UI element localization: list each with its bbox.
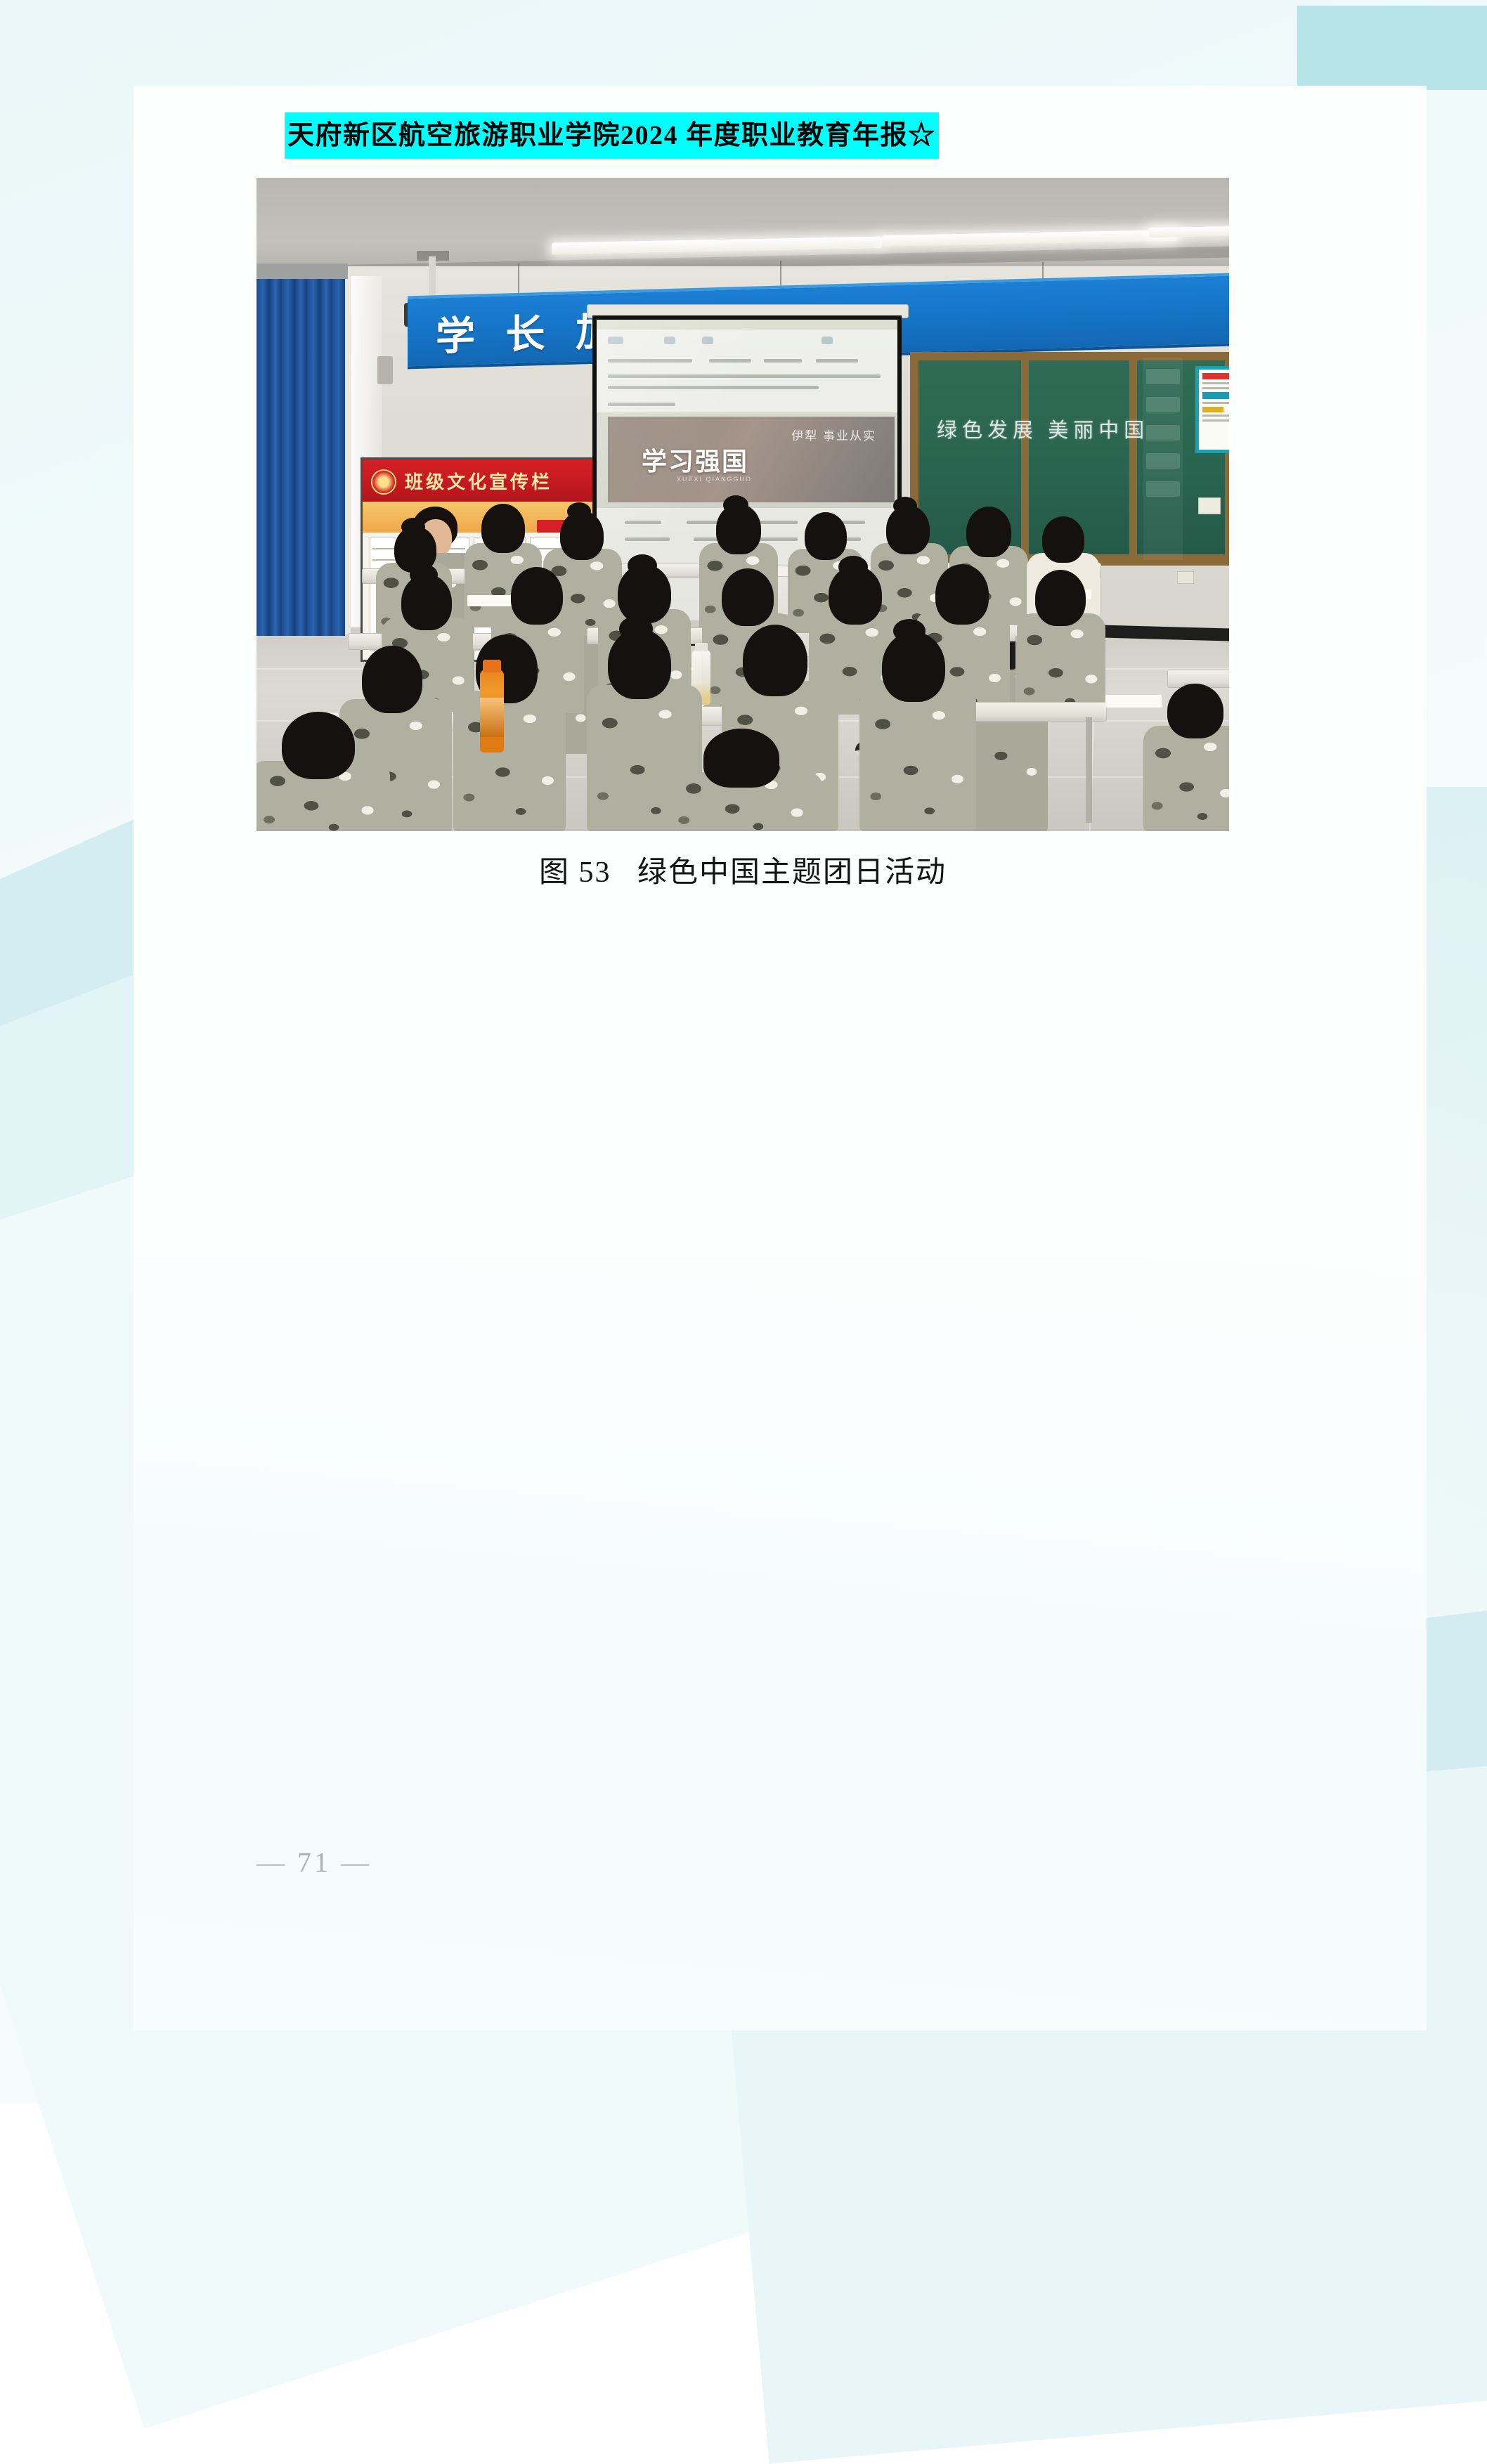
hair-bun	[723, 495, 748, 515]
chalkboard-note-card	[1146, 397, 1180, 412]
hair-bun	[410, 564, 438, 585]
curtain-rail	[257, 263, 348, 279]
wall-socket	[1177, 571, 1194, 584]
wall-poster	[1195, 366, 1229, 453]
blue-curtain	[257, 263, 345, 636]
figure-53: 学 长 加快成材之路 班级文化宣传栏	[257, 178, 1229, 891]
hair-bun	[567, 502, 591, 521]
student-uniform	[1143, 726, 1229, 831]
wall-poster-chip-2	[1202, 407, 1223, 412]
hair-bun	[893, 497, 917, 515]
wall-speaker	[377, 356, 393, 384]
paper-sheet	[1105, 695, 1162, 708]
bulletin-board-header: 班级文化宣传栏	[363, 459, 595, 502]
chalkboard-text: 绿色发展 美丽中国	[937, 414, 1149, 443]
orange-drink-bottle-cap	[483, 660, 501, 672]
chalkboard-note-card	[1146, 369, 1180, 384]
student-head	[362, 646, 422, 713]
chalkboard-note-card	[1146, 481, 1180, 497]
orange-drink-bottle-label	[480, 698, 504, 737]
hair-bun	[401, 518, 425, 536]
wall-poster-title-bar	[1202, 373, 1229, 379]
hair-bun	[628, 554, 657, 577]
chalkboard-note-card	[1146, 425, 1180, 441]
hair-bun	[838, 556, 868, 578]
student-uniform	[859, 686, 976, 831]
wall-light-switch	[1198, 497, 1221, 514]
background-band-top-right	[1297, 6, 1487, 90]
bulletin-emblem-icon	[371, 469, 396, 495]
student-uniform	[1017, 613, 1105, 716]
student-head	[282, 712, 355, 779]
student-head	[743, 625, 807, 696]
hair-bun	[619, 616, 653, 641]
hair-bun	[893, 619, 926, 643]
document-page: 天府新区航空旅游职业学院2024 年度职业教育年报☆	[134, 86, 1427, 2030]
running-header: 天府新区航空旅游职业学院2024 年度职业教育年报☆	[285, 112, 939, 159]
student-uniform	[453, 691, 566, 831]
student-head	[481, 504, 525, 553]
bulletin-board-title: 班级文化宣传栏	[405, 468, 552, 494]
student-head	[1167, 684, 1223, 738]
water-bottle-cap	[695, 643, 708, 651]
student-head	[722, 568, 774, 626]
student-head	[966, 507, 1011, 557]
page-number: — 71 —	[257, 1846, 372, 1879]
figure-caption: 图 53 绿色中国主题团日活动	[257, 848, 1229, 891]
student-head	[703, 729, 779, 788]
student-head	[935, 564, 989, 625]
chalkboard-note-card	[1146, 453, 1180, 469]
fluorescent-light	[1149, 226, 1229, 237]
student-head	[805, 512, 847, 560]
student-head	[511, 567, 563, 625]
wall-poster-chip	[1202, 392, 1229, 399]
figure-photo: 学 长 加快成材之路 班级文化宣传栏	[257, 178, 1229, 831]
student-head	[1042, 516, 1084, 563]
running-header-text: 天府新区航空旅游职业学院2024 年度职业教育年报☆	[287, 122, 936, 149]
student-head	[1035, 570, 1086, 626]
